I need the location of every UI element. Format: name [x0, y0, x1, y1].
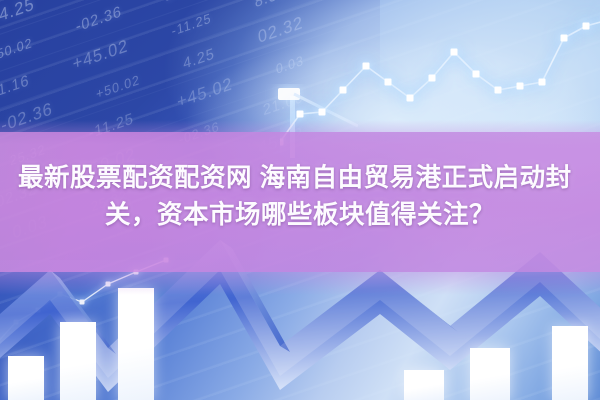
banner-image: -02.36+50.02-11.25+45.0221.06+45.02-02.3… — [0, 0, 600, 400]
bar-column — [60, 322, 96, 400]
bar-column — [404, 370, 444, 400]
chart-marker — [495, 87, 502, 94]
chart-marker — [451, 49, 458, 56]
chart-marker — [363, 63, 370, 70]
page-title: 最新股票配资配资网 海南自由贸易港正式启动封 关，资本市场哪些板块值得关注？ — [0, 160, 600, 234]
chart-marker — [429, 75, 436, 82]
chart-marker — [517, 83, 524, 90]
chart-marker — [561, 35, 568, 42]
chart-marker — [385, 79, 392, 86]
chart-marker — [407, 95, 414, 102]
bar-column — [8, 356, 44, 400]
bar-column — [470, 348, 510, 400]
chart-marker — [297, 111, 304, 118]
chart-marker — [539, 79, 546, 86]
page-title-line-2: 关，资本市场哪些板块值得关注？ — [14, 197, 586, 234]
bar-column — [552, 326, 588, 400]
page-title-line-1: 最新股票配资配资网 海南自由贸易港正式启动封 — [14, 160, 586, 197]
chart-marker — [473, 71, 480, 78]
chart-marker — [583, 23, 590, 30]
chart-marker — [319, 109, 326, 116]
chart-marker — [340, 87, 347, 94]
